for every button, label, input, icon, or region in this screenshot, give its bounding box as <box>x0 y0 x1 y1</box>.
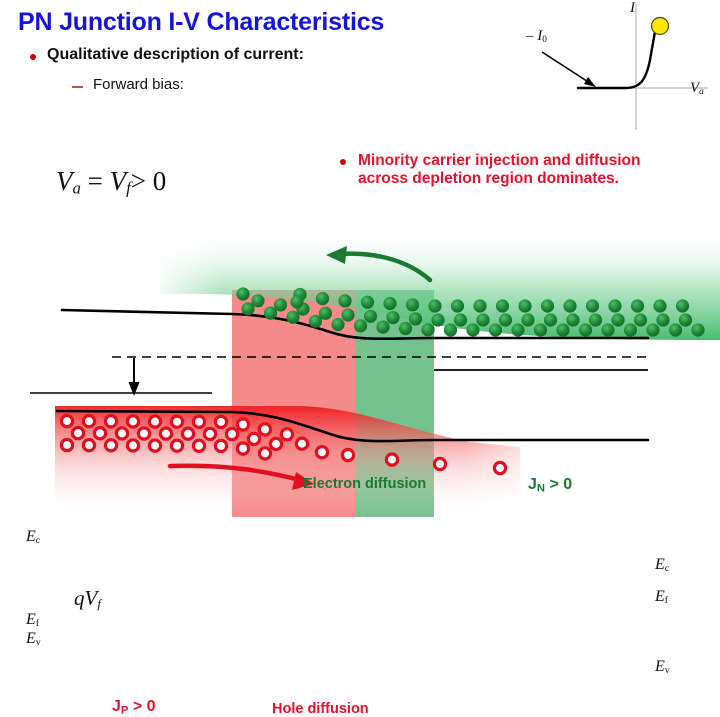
hole-dot-icon <box>237 419 248 430</box>
electron-dot-icon <box>331 318 344 331</box>
electron-dot-icon <box>428 299 441 312</box>
electron-dot-icon <box>290 295 303 308</box>
hole-dot-icon <box>149 440 160 451</box>
bullet-dash-icon <box>72 86 83 88</box>
page-title: PN Junction I-V Characteristics <box>18 8 384 37</box>
label-hole-diffusion: Hole diffusion <box>272 701 369 717</box>
electron-dot-icon <box>634 313 647 326</box>
bullet-item-forward-bias: Forward bias: <box>72 76 184 93</box>
electron-dot-icon <box>499 313 512 326</box>
hole-dot-icon <box>281 429 292 440</box>
electron-dot-icon <box>316 292 329 305</box>
electron-dot-icon <box>679 313 692 326</box>
equation-lhs-var: V <box>56 166 73 196</box>
electron-dot-icon <box>563 299 576 312</box>
electron-dot-icon <box>601 323 614 336</box>
band-label-ef-left: Ef <box>26 611 39 629</box>
electron-dot-icon <box>653 299 666 312</box>
label-electron-diffusion: Electron diffusion <box>303 476 426 492</box>
hole-dot-icon <box>138 428 149 439</box>
electron-dot-icon <box>624 323 637 336</box>
callout-minority-carrier: Minority carrier injection and diffusion… <box>340 152 658 189</box>
band-label-ec-left: Ec <box>26 528 40 546</box>
hole-dot-icon <box>342 449 353 460</box>
bullet-dot-icon <box>340 159 346 165</box>
band-label-ev-left: Ev <box>26 630 41 648</box>
hole-dot-icon <box>61 416 72 427</box>
bullet-item-label: Qualitative description of current: <box>47 46 304 64</box>
electron-dot-icon <box>251 294 264 307</box>
hole-dot-icon <box>127 440 138 451</box>
electron-dot-icon <box>364 310 377 323</box>
electron-dot-icon <box>556 323 569 336</box>
hole-dot-icon <box>72 428 83 439</box>
operating-point-dot-icon <box>652 18 669 35</box>
band-label-ev-right: Ev <box>655 658 670 676</box>
hole-dot-icon <box>171 440 182 451</box>
hole-dot-icon <box>316 447 327 458</box>
electron-dot-icon <box>409 312 422 325</box>
electron-dot-icon <box>406 298 419 311</box>
electron-dot-icon <box>631 299 644 312</box>
iv-curve-svg <box>500 0 720 150</box>
electron-dot-icon <box>646 323 659 336</box>
electron-dot-icon <box>319 307 332 320</box>
electron-dot-icon <box>274 298 287 311</box>
hole-dot-icon <box>83 416 94 427</box>
electron-dot-icon <box>541 299 554 312</box>
iv-saturation-current-label: – I0 <box>526 28 547 45</box>
hole-dot-icon <box>193 440 204 451</box>
hole-dot-icon <box>259 448 270 459</box>
hole-dot-icon <box>160 428 171 439</box>
callout-label: Minority carrier injection and diffusion… <box>358 152 658 189</box>
electron-dot-icon <box>669 323 682 336</box>
hole-dot-icon <box>226 428 237 439</box>
electron-dot-icon <box>511 323 524 336</box>
hole-dot-icon <box>105 416 116 427</box>
electron-dot-icon <box>421 323 434 336</box>
band-diagram: Ec Ef Ev Ec Ef Ev qVf Electron diffusion… <box>0 228 720 517</box>
electron-dot-icon <box>534 323 547 336</box>
bullet-dot-icon <box>30 54 36 60</box>
electron-dot-icon <box>518 299 531 312</box>
hole-dot-icon <box>386 454 397 465</box>
iv-diode-curve <box>578 26 656 88</box>
electron-dot-icon <box>473 299 486 312</box>
hole-dot-icon <box>105 440 116 451</box>
electron-dot-icon <box>451 299 464 312</box>
equation-relation: > 0 <box>131 166 166 196</box>
electron-dot-icon <box>376 321 389 334</box>
equation-rhs-var: V <box>110 166 127 196</box>
hole-dot-icon <box>494 462 505 473</box>
hole-dot-icon <box>182 428 193 439</box>
electron-dot-icon <box>566 313 579 326</box>
equation-va-vf: Va = Vf> 0 <box>56 166 166 199</box>
electron-dot-icon <box>236 287 249 300</box>
label-jn-current: JN > 0 <box>528 476 572 494</box>
electron-dot-icon <box>586 299 599 312</box>
electron-dot-icon <box>466 323 479 336</box>
bias-split-arrow <box>129 358 140 396</box>
iv-x-axis-label: Va <box>690 80 704 97</box>
hole-dot-icon <box>61 440 72 451</box>
hole-dot-icon <box>296 438 307 449</box>
equation-lhs-sub: a <box>73 179 81 198</box>
electron-dot-icon <box>431 313 444 326</box>
iv-annotation-arrow-line <box>542 52 593 85</box>
band-label-ef-right: Ef <box>655 588 668 606</box>
hole-dot-icon <box>193 416 204 427</box>
electron-dot-icon <box>608 299 621 312</box>
electron-dot-icon <box>489 323 502 336</box>
electron-dot-icon <box>444 323 457 336</box>
electron-dot-icon <box>338 294 351 307</box>
iv-annotation-arrow-head <box>584 77 596 87</box>
hole-dot-icon <box>94 428 105 439</box>
bullet-item-label: Forward bias: <box>93 76 184 93</box>
electron-dot-icon <box>611 313 624 326</box>
hole-dot-icon <box>215 440 226 451</box>
hole-dot-icon <box>259 424 270 435</box>
hole-dot-icon <box>248 433 259 444</box>
hole-dot-icon <box>434 458 445 469</box>
electron-dot-icon <box>399 322 412 335</box>
electron-dot-icon <box>691 323 704 336</box>
hole-dot-icon <box>237 443 248 454</box>
slide: PN Junction I-V Characteristics Qualitat… <box>0 0 720 517</box>
band-label-qvf: qVf <box>74 586 101 612</box>
iv-y-axis-label: I <box>630 0 635 17</box>
electron-dot-icon <box>676 299 689 312</box>
hole-dot-icon <box>204 428 215 439</box>
hole-dot-icon <box>149 416 160 427</box>
iv-curve-inset: I Va – I0 <box>500 0 720 150</box>
hole-dot-icon <box>215 416 226 427</box>
electron-dot-icon <box>383 297 396 310</box>
electron-dot-icon <box>386 311 399 324</box>
label-jp-current: JP > 0 <box>112 698 156 716</box>
hole-dot-icon <box>116 428 127 439</box>
band-diagram-svg <box>0 228 720 517</box>
electron-dot-icon <box>544 313 557 326</box>
electron-dot-icon <box>656 313 669 326</box>
electron-dot-icon <box>341 308 354 321</box>
electron-dot-icon <box>354 319 367 332</box>
electron-dot-icon <box>579 323 592 336</box>
hole-dot-icon <box>171 416 182 427</box>
hole-dot-icon <box>127 416 138 427</box>
electron-dot-icon <box>454 313 467 326</box>
hole-dot-icon <box>270 438 281 449</box>
electron-dot-icon <box>361 296 374 309</box>
bullet-item-qualitative: Qualitative description of current: <box>30 46 304 64</box>
electron-dot-icon <box>521 313 534 326</box>
electron-dot-icon <box>476 313 489 326</box>
electron-dot-icon <box>589 313 602 326</box>
equation-equals: = <box>88 166 103 196</box>
hole-dot-icon <box>83 440 94 451</box>
electron-dot-icon <box>496 299 509 312</box>
band-label-ec-right: Ec <box>655 556 669 574</box>
